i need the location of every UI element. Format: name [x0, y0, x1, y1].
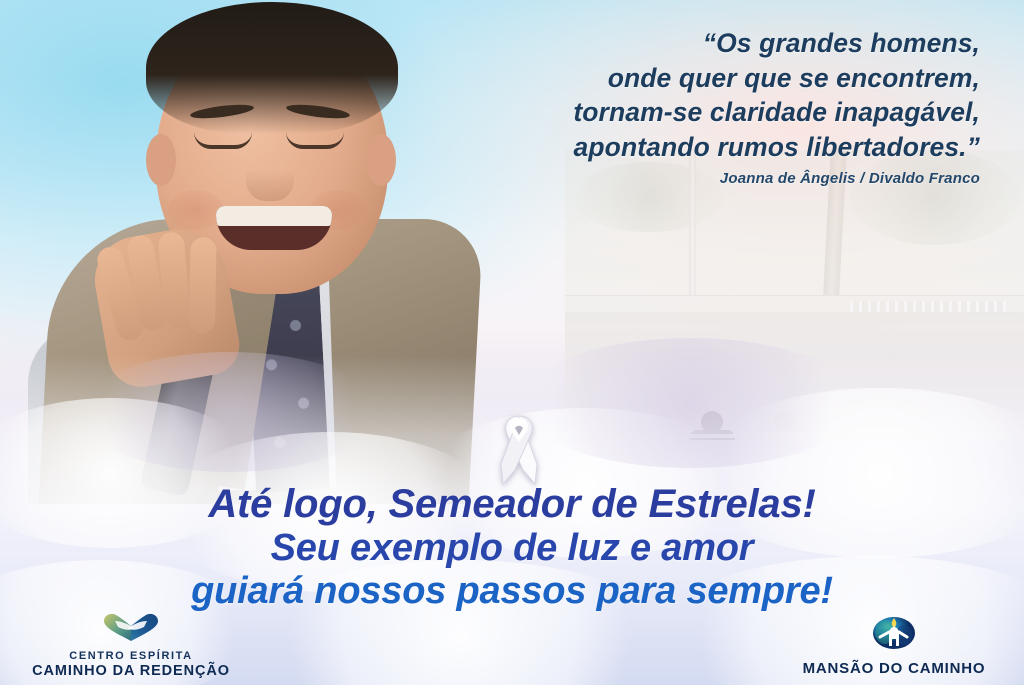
headline-line-1: Até logo, Semeador de Estrelas!: [0, 484, 1024, 525]
quote-line-3: tornam-se claridade inapagável,: [360, 95, 980, 130]
poster-canvas: “Os grandes homens, onde quer que se enc…: [0, 0, 1024, 685]
quote-line-4: apontando rumos libertadores.”: [360, 130, 980, 165]
figure-torso: [761, 430, 809, 440]
quote-text: “Os grandes homens, onde quer que se enc…: [360, 26, 980, 165]
logo-left-line-1: CENTRO ESPÍRITA: [6, 650, 256, 662]
headline-block: Até logo, Semeador de Estrelas! Seu exem…: [0, 484, 1024, 610]
white-mourning-ribbon-icon: [485, 412, 553, 486]
portrait-eye-left: [194, 132, 252, 149]
hands-heart-logo-icon: [6, 612, 256, 647]
logo-centro-espirita[interactable]: CENTRO ESPÍRITA CAMINHO DA REDENÇÃO: [6, 612, 256, 679]
figure-torso: [689, 430, 735, 440]
logo-mansao-do-caminho[interactable]: MANSÃO DO CAMINHO: [774, 612, 1014, 677]
headline-line-2: Seu exemplo de luz e amor: [0, 529, 1024, 568]
portrait-nose: [246, 149, 294, 201]
headline-line-3: guiará nossos passos para sempre!: [0, 572, 1024, 611]
portrait-eye-right: [286, 132, 344, 149]
logo-right-line-2: MANSÃO DO CAMINHO: [774, 660, 1014, 677]
quote-line-1: “Os grandes homens,: [360, 26, 980, 61]
portrait-ear-left: [146, 134, 176, 186]
globe-figure-logo-icon: [774, 612, 1014, 657]
quote-attribution: Joanna de Ângelis / Divaldo Franco: [360, 170, 980, 187]
quote-line-2: onde quer que se encontrem,: [360, 61, 980, 96]
portrait-smile: [216, 206, 332, 250]
logo-left-line-2: CAMINHO DA REDENÇÃO: [6, 663, 256, 679]
background-photo: [565, 150, 1024, 440]
portrait-teeth: [216, 206, 332, 226]
portrait-finger: [189, 237, 217, 333]
